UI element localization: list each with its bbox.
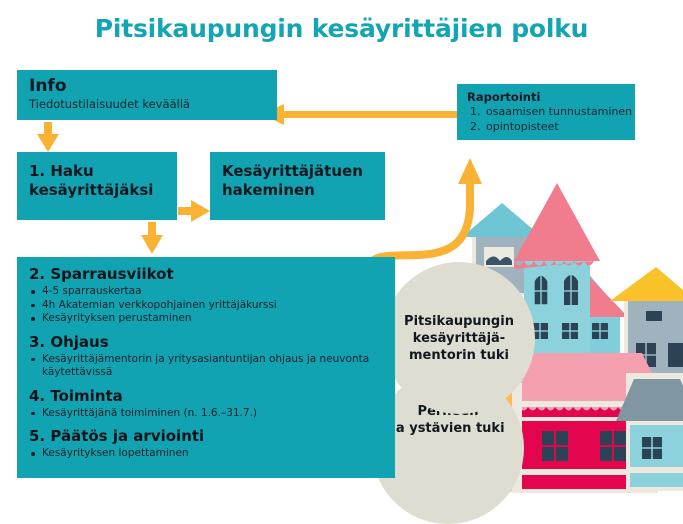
- step-heading: 5. Päätös ja arviointi: [29, 427, 395, 446]
- box-haku-line2: kesäyrittäjäksi: [29, 181, 177, 200]
- support-circle-family-line2: ja ystävien tuki: [391, 420, 504, 437]
- list-item: 4-5 sparrauskertaa: [29, 285, 395, 299]
- box-info: Info Tiedotustilaisuudet keväällä: [17, 70, 277, 120]
- step-group: 2. Sparrausviikot 4-5 sparrauskertaa 4h …: [29, 265, 395, 326]
- step-bullets: Kesäyrittäjämentorin ja yritysasiantunti…: [29, 353, 395, 380]
- box-haku-line1: 1. Haku: [29, 162, 177, 181]
- box-tuki-line2: hakeminen: [222, 181, 385, 200]
- box-raportointi-list: osaamisen tunnustaminen opintopisteet: [467, 105, 635, 134]
- step-heading: 2. Sparrausviikot: [29, 265, 395, 284]
- step-heading: 3. Ohjaus: [29, 333, 395, 352]
- box-haku-kesayrittajaksi: 1. Haku kesäyrittäjäksi: [17, 152, 177, 220]
- support-circle-mentor-line2: kesäyrittäjä-: [404, 330, 514, 347]
- box-kesayrittajatuen-hakeminen: Kesäyrittäjätuen hakeminen: [210, 152, 385, 220]
- page-title: Pitsikaupungin kesäyrittäjien polku: [0, 14, 683, 43]
- list-item: opintopisteet: [484, 120, 635, 135]
- support-circle-mentor-line3: mentorin tuki: [404, 347, 514, 364]
- list-item: Kesäyrityksen perustaminen: [29, 312, 395, 326]
- box-info-heading: Info: [29, 77, 277, 96]
- support-circle-mentor-line1: Pitsikaupungin: [404, 313, 514, 330]
- support-circle-mentor: Pitsikaupungin kesäyrittäjä- mentorin tu…: [383, 262, 535, 414]
- infographic-canvas: Pitsikaupungin kesäyrittäjien polku: [0, 0, 683, 501]
- list-item: osaamisen tunnustaminen: [484, 105, 635, 120]
- list-item: 4h Akatemian verkkopohjainen yrittäjäkur…: [29, 299, 395, 313]
- list-item: Kesäyrittäjämentorin ja yritysasiantunti…: [29, 353, 395, 380]
- step-group: 4. Toiminta Kesäyrittäjänä toimiminen (n…: [29, 387, 395, 421]
- down-arrow-icon-haku-to-steps: [141, 222, 163, 254]
- list-item: Kesäyrittäjänä toimiminen (n. 1.6.–31.7.…: [29, 407, 395, 421]
- box-steps: 2. Sparrausviikot 4-5 sparrauskertaa 4h …: [17, 257, 395, 478]
- box-tuki-line1: Kesäyrittäjätuen: [222, 162, 385, 181]
- step-bullets: Kesäyrittäjänä toimiminen (n. 1.6.–31.7.…: [29, 407, 395, 421]
- step-group: 5. Päätös ja arviointi Kesäyrityksen lop…: [29, 427, 395, 461]
- step-bullets: Kesäyrityksen lopettaminen: [29, 447, 395, 461]
- down-arrow-icon-info-to-haku: [37, 122, 59, 152]
- list-item: Kesäyrityksen lopettaminen: [29, 447, 395, 461]
- box-raportointi: Raportointi osaamisen tunnustaminen opin…: [457, 84, 635, 140]
- step-heading: 4. Toiminta: [29, 387, 395, 406]
- step-bullets: 4-5 sparrauskertaa 4h Akatemian verkkopo…: [29, 285, 395, 326]
- box-info-subtitle: Tiedotustilaisuudet keväällä: [29, 97, 277, 112]
- step-group: 3. Ohjaus Kesäyrittäjämentorin ja yritys…: [29, 333, 395, 380]
- left-arrow-icon: [262, 104, 462, 126]
- right-arrow-icon-haku-to-tuki: [178, 200, 210, 222]
- box-raportointi-heading: Raportointi: [467, 90, 635, 104]
